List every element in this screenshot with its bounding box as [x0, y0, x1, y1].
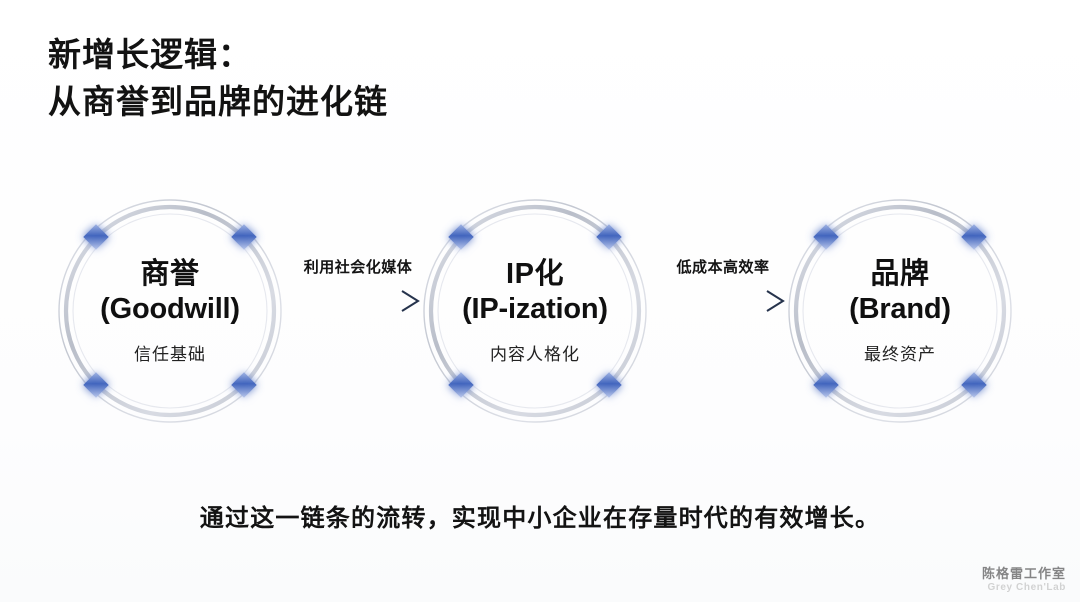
- connector-ip-to-brand: 低成本高效率: [653, 256, 793, 336]
- ring-circle-icon: [413, 189, 657, 433]
- connector-goodwill-to-ip: 利用社会化媒体: [288, 256, 428, 336]
- page-title: 新增长逻辑： 从商誉到品牌的进化链: [48, 32, 648, 126]
- connector-label: 利用社会化媒体: [288, 256, 428, 277]
- ring-circle-icon: [48, 189, 292, 433]
- slide-canvas: 新增长逻辑： 从商誉到品牌的进化链: [0, 0, 1080, 602]
- node-ip-ization[interactable]: IP化 (IP-ization) 内容人格化: [413, 189, 657, 433]
- arrow-right-icon: [653, 286, 793, 316]
- summary-caption: 通过这一链条的流转，实现中小企业在存量时代的有效增长。: [0, 498, 1080, 533]
- title-line-1: 新增长逻辑：: [48, 32, 648, 79]
- watermark-en: Grey Chen'Lab: [982, 582, 1066, 594]
- ring-circle-icon: [778, 189, 1022, 433]
- node-brand[interactable]: 品牌 (Brand) 最终资产: [778, 189, 1022, 433]
- node-goodwill[interactable]: 商誉 (Goodwill) 信任基础: [48, 189, 292, 433]
- evolution-chain-diagram: 商誉 (Goodwill) 信任基础 利用社会化媒体: [0, 176, 1080, 446]
- watermark-cn: 陈格雷工作室: [982, 567, 1066, 581]
- connector-label: 低成本高效率: [653, 256, 793, 277]
- arrow-right-icon: [288, 286, 428, 316]
- title-line-2: 从商誉到品牌的进化链: [48, 79, 648, 126]
- watermark: 陈格雷工作室 Grey Chen'Lab: [982, 567, 1066, 594]
